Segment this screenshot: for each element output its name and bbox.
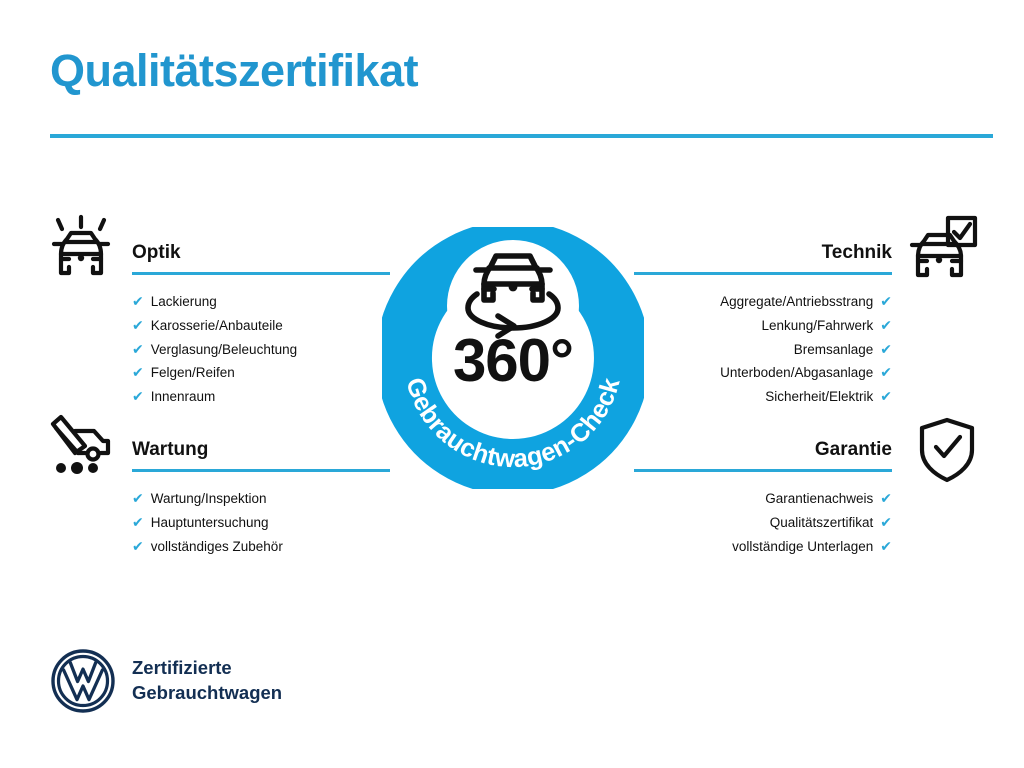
list-item: ✔Innenraum xyxy=(132,385,390,409)
list-item: ✔Verglasung/Beleuchtung xyxy=(132,338,390,362)
list-item-label: Hauptuntersuchung xyxy=(151,511,269,535)
check-icon: ✔ xyxy=(132,318,144,332)
list-item-label: Garantienachweis xyxy=(765,487,873,511)
list-item: Unterboden/Abgasanlage✔ xyxy=(634,361,892,385)
vw-wordmark: Zertifizierte Gebrauchtwagen xyxy=(132,656,282,705)
list-item-label: Innenraum xyxy=(151,385,216,409)
check-icon: ✔ xyxy=(880,389,892,403)
checklist-optik: ✔Lackierung ✔Karosserie/Anbauteile ✔Verg… xyxy=(132,290,390,409)
section-divider-technik xyxy=(634,272,892,275)
check-icon: ✔ xyxy=(132,389,144,403)
list-item-label: Karosserie/Anbauteile xyxy=(151,314,283,338)
checklist-wartung: ✔Wartung/Inspektion ✔Hauptuntersuchung ✔… xyxy=(132,487,390,558)
list-item: ✔Karosserie/Anbauteile xyxy=(132,314,390,338)
check-icon: ✔ xyxy=(132,365,144,379)
list-item-label: Unterboden/Abgasanlage xyxy=(720,361,873,385)
car-service-pen-icon xyxy=(44,408,118,482)
checklist-garantie: Garantienachweis✔ Qualitätszertifikat✔ v… xyxy=(634,487,892,558)
check-icon: ✔ xyxy=(132,539,144,553)
badge-number: 360° xyxy=(453,327,573,394)
list-item-label: Sicherheit/Elektrik xyxy=(765,385,873,409)
check-icon: ✔ xyxy=(132,515,144,529)
section-divider-wartung xyxy=(132,469,390,472)
list-item: Garantienachweis✔ xyxy=(634,487,892,511)
list-item: ✔Wartung/Inspektion xyxy=(132,487,390,511)
section-divider-optik xyxy=(132,272,390,275)
list-item: Lenkung/Fahrwerk✔ xyxy=(634,314,892,338)
list-item-label: vollständiges Zubehör xyxy=(151,535,283,559)
list-item: ✔Lackierung xyxy=(132,290,390,314)
section-divider-garantie xyxy=(634,469,892,472)
check-icon: ✔ xyxy=(132,491,144,505)
vw-logo-icon xyxy=(50,648,116,714)
section-garantie: Garantie Garantienachweis✔ Qualitätszert… xyxy=(634,440,892,558)
title-divider xyxy=(50,134,993,138)
check-icon: ✔ xyxy=(880,294,892,308)
section-heading-technik: Technik xyxy=(634,243,892,262)
list-item-label: Felgen/Reifen xyxy=(151,361,235,385)
check-icon: ✔ xyxy=(880,365,892,379)
list-item-label: Aggregate/Antriebsstrang xyxy=(720,290,873,314)
shield-check-icon xyxy=(910,412,984,486)
check-icon: ✔ xyxy=(880,515,892,529)
list-item-label: Qualitätszertifikat xyxy=(770,511,874,535)
list-item: Aggregate/Antriebsstrang✔ xyxy=(634,290,892,314)
section-technik: Technik Aggregate/Antriebsstrang✔ Lenkun… xyxy=(634,243,892,409)
list-item-label: Wartung/Inspektion xyxy=(151,487,267,511)
vw-wordmark-line2: Gebrauchtwagen xyxy=(132,681,282,706)
list-item: Sicherheit/Elektrik✔ xyxy=(634,385,892,409)
vw-wordmark-line1: Zertifizierte xyxy=(132,656,282,681)
check-icon: ✔ xyxy=(132,342,144,356)
check-icon: ✔ xyxy=(132,294,144,308)
checklist-technik: Aggregate/Antriebsstrang✔ Lenkung/Fahrwe… xyxy=(634,290,892,409)
section-optik: Optik ✔Lackierung ✔Karosserie/Anbauteile… xyxy=(132,243,390,409)
list-item: Qualitätszertifikat✔ xyxy=(634,511,892,535)
vw-certified-lockup: Zertifizierte Gebrauchtwagen xyxy=(50,648,282,714)
list-item: Bremsanlage✔ xyxy=(634,338,892,362)
list-item: vollständige Unterlagen✔ xyxy=(634,535,892,559)
badge-360-gebrauchtwagen-check: Gebrauchtwagen-Check 360° xyxy=(372,198,654,498)
check-icon: ✔ xyxy=(880,318,892,332)
car-checkbox-icon xyxy=(906,212,980,286)
list-item-label: Bremsanlage xyxy=(794,338,874,362)
section-wartung: Wartung ✔Wartung/Inspektion ✔Hauptunters… xyxy=(132,440,390,558)
list-item-label: Lackierung xyxy=(151,290,217,314)
section-heading-garantie: Garantie xyxy=(634,440,892,459)
list-item: ✔Hauptuntersuchung xyxy=(132,511,390,535)
check-icon: ✔ xyxy=(880,539,892,553)
list-item: ✔vollständiges Zubehör xyxy=(132,535,390,559)
section-heading-wartung: Wartung xyxy=(132,440,390,459)
list-item-label: vollständige Unterlagen xyxy=(732,535,873,559)
check-icon: ✔ xyxy=(880,491,892,505)
check-icon: ✔ xyxy=(880,342,892,356)
page-title: Qualitätszertifikat xyxy=(50,46,418,96)
list-item-label: Verglasung/Beleuchtung xyxy=(151,338,297,362)
car-shine-icon xyxy=(44,212,118,286)
list-item-label: Lenkung/Fahrwerk xyxy=(761,314,873,338)
list-item: ✔Felgen/Reifen xyxy=(132,361,390,385)
section-heading-optik: Optik xyxy=(132,243,390,262)
